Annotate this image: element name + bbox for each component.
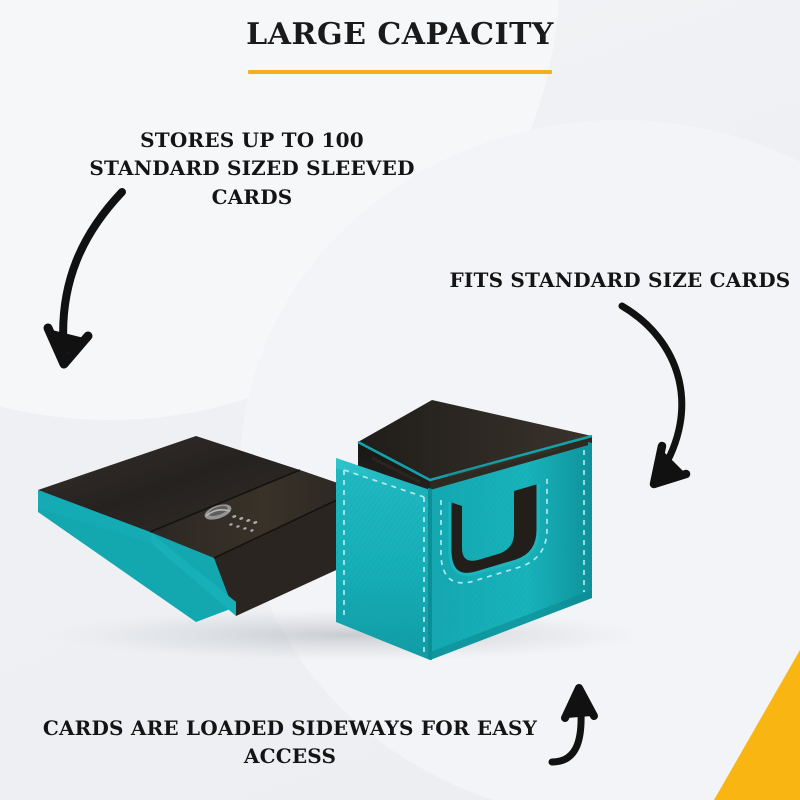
title-underline xyxy=(248,70,552,74)
infographic-page: LARGE CAPACITY xyxy=(0,0,800,800)
arrow-to-box-bottom-icon xyxy=(548,678,648,778)
box-front-corner xyxy=(428,488,432,660)
callout-loaded-sideways: CARDS ARE LOADED SIDEWAYS FOR EASY ACCES… xyxy=(18,714,562,771)
arrow-to-box-side-icon xyxy=(606,288,736,503)
header: LARGE CAPACITY xyxy=(0,18,800,74)
arrow-to-flap-icon xyxy=(18,178,168,398)
page-title: LARGE CAPACITY xyxy=(0,18,800,51)
corner-accent-triangle xyxy=(714,650,800,800)
box-right-edge xyxy=(588,442,592,599)
